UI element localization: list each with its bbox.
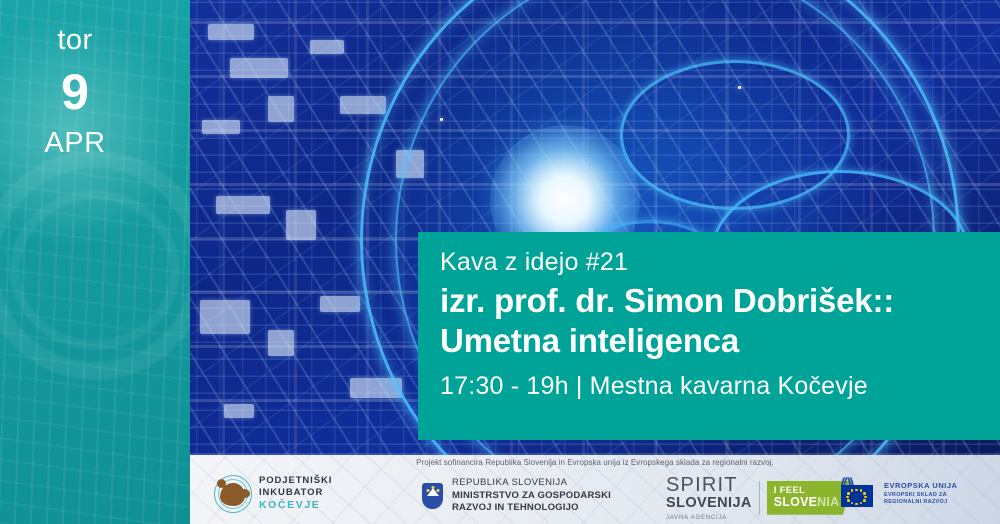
date-month: APR	[0, 129, 150, 158]
bear-icon	[220, 483, 245, 506]
logo-evropska-unija: ⟪⟫	[838, 475, 957, 513]
ministry-line-2: MINISTRSTVO ZA GOSPODARSKI	[452, 490, 611, 503]
date-day-of-week: tor	[0, 26, 150, 55]
ifeel-strong: SLOVE	[774, 495, 817, 509]
eu-line-1: EVROPSKA UNIJA	[884, 481, 957, 492]
event-series-label: Kava z idejo #21	[440, 248, 1000, 277]
eu-line-3: REGIONALNI RAZVOJ	[884, 499, 957, 507]
logo-ministrstvo: REPUBLIKA SLOVENIJA MINISTRSTVO ZA GOSPO…	[422, 477, 611, 515]
date-day-number: 9	[0, 67, 150, 117]
spark-dot	[738, 86, 741, 89]
sponsor-logo-row: PODJETNIŠKI INKUBATOR KOČEVJE REPUBLIKA …	[190, 469, 1000, 523]
event-poster: tor 9 APR Kava z idejo #21 izr. prof. dr…	[0, 0, 1000, 524]
logo-spirit-slovenija: SPIRIT SLOVENIJA JAVNA AGENCIJA I FEEL S…	[666, 475, 853, 521]
incubator-line-2: INKUBATOR	[259, 487, 332, 499]
event-info-box: Kava z idejo #21 izr. prof. dr. Simon Do…	[418, 232, 1000, 440]
spirit-line-2: SLOVENIJA	[666, 496, 752, 511]
ifeel-faded: NIA	[817, 495, 839, 509]
spark-dot	[440, 118, 443, 121]
event-time-and-venue: 17:30 - 19h | Mestna kavarna Kočevje	[440, 372, 1000, 401]
ghost-brain-decoration-inner	[10, 190, 180, 350]
event-title-line-2: Umetna inteligenca	[440, 321, 1000, 361]
spirit-line-3: JAVNA AGENCIJA	[666, 515, 752, 521]
sponsor-footer-band: Projekt sofinancira Republika Slovenija …	[190, 455, 1000, 524]
ifeel-line-2: SLOVENIA	[774, 496, 840, 509]
ministry-line-3: RAZVOJ IN TEHNOLOGIJO	[452, 502, 611, 515]
eu-stars	[841, 485, 873, 507]
ministry-line-1: REPUBLIKA SLOVENIJA	[452, 477, 611, 490]
bear-circle-icon	[214, 475, 252, 513]
spirit-line-1: SPIRIT	[666, 475, 752, 495]
date-block: tor 9 APR	[0, 26, 150, 158]
logo-podjetniski-inkubator-kocevje: PODJETNIŠKI INKUBATOR KOČEVJE	[214, 475, 332, 513]
funding-disclaimer: Projekt sofinancira Republika Slovenija …	[190, 458, 1000, 467]
event-title-line-1: izr. prof. dr. Simon Dobrišek::	[440, 281, 1000, 321]
incubator-line-1: PODJETNIŠKI	[259, 475, 332, 487]
incubator-line-3: KOČEVJE	[259, 499, 332, 512]
slovenia-coat-of-arms-icon	[422, 483, 443, 509]
date-panel: tor 9 APR	[0, 0, 190, 524]
eu-line-2: EVROPSKI SKLAD ZA	[884, 492, 957, 500]
logo-divider	[759, 481, 760, 515]
eu-flag-icon: ⟪⟫	[838, 475, 878, 513]
